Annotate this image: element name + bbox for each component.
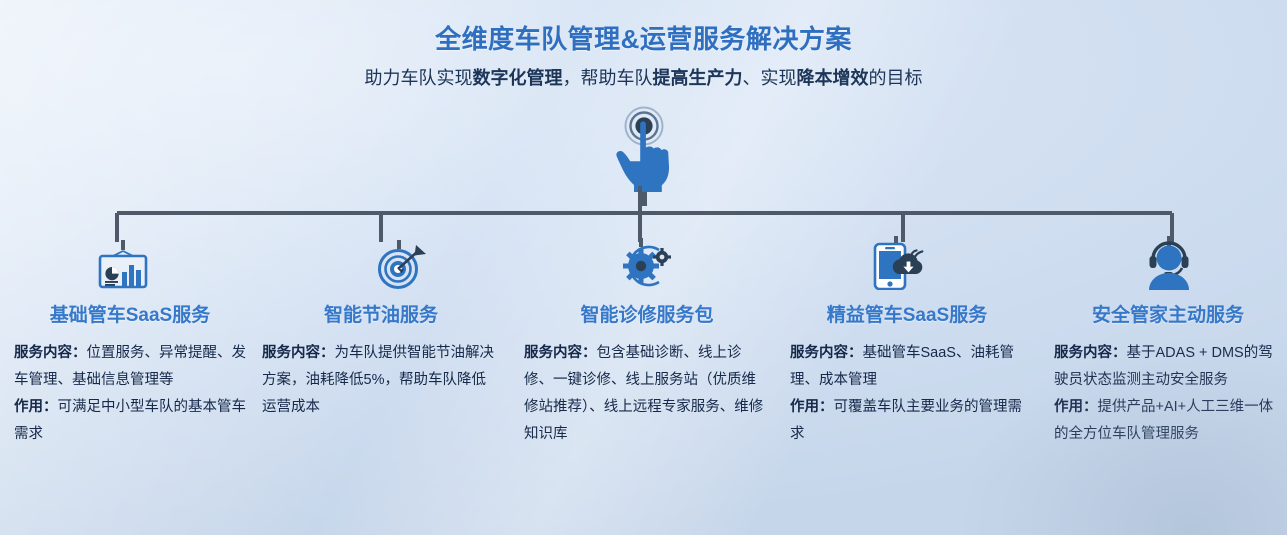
- service-content-block: 服务内容：基于ADAS + DMS的驾驶员状态监测主动安全服务: [1054, 340, 1282, 394]
- subtitle-part-1: 助力车队实现: [365, 68, 473, 88]
- service-content-block: 服务内容：为车队提供智能节油解决方案，油耗降低5%，帮助车队降低运营成本: [262, 340, 500, 421]
- service-column-5: 安全管家主动服务 服务内容：基于ADAS + DMS的驾驶员状态监测主动安全服务…: [1054, 228, 1282, 448]
- column-body: 服务内容：包含基础诊断、线上诊修、一键诊修、线上服务站（优质维修站推荐）、线上远…: [524, 340, 770, 448]
- subtitle-part-2: ，帮助车队: [563, 68, 653, 88]
- column-title: 智能诊修服务包: [524, 304, 770, 328]
- subtitle-part-3: 、实现: [743, 68, 797, 88]
- column-title: 精益管车SaaS服务: [790, 304, 1024, 328]
- service-effect-block: 作用：提供产品+AI+人工三维一体的全方位车队管理服务: [1054, 394, 1282, 448]
- block-label: 服务内容：: [262, 345, 335, 361]
- column-title: 基础管车SaaS服务: [14, 304, 246, 328]
- subtitle-part-4: 的目标: [869, 68, 923, 88]
- column-title: 智能节油服务: [262, 304, 500, 328]
- service-column-1: 基础管车SaaS服务 服务内容：位置服务、异常提醒、发车管理、基础信息管理等 作…: [14, 228, 246, 448]
- gear-settings-icon: [524, 228, 770, 290]
- subtitle-emphasis-3: 降本增效: [797, 68, 869, 88]
- column-body: 服务内容：基础管车SaaS、油耗管理、成本管理 作用：可覆盖车队主要业务的管理需…: [790, 340, 1024, 448]
- mobile-cloud-download-icon: [790, 228, 1024, 290]
- block-label: 服务内容：: [14, 345, 87, 361]
- page-subtitle: 助力车队实现数字化管理，帮助车队提高生产力、实现降本增效的目标: [0, 65, 1287, 91]
- column-body: 服务内容：为车队提供智能节油解决方案，油耗降低5%，帮助车队降低运营成本: [262, 340, 500, 421]
- header: 全维度车队管理&运营服务解决方案 助力车队实现数字化管理，帮助车队提高生产力、实…: [0, 22, 1287, 91]
- column-title: 安全管家主动服务: [1054, 304, 1282, 328]
- subtitle-emphasis-2: 提高生产力: [653, 68, 743, 88]
- service-column-3: 智能诊修服务包 服务内容：包含基础诊断、线上诊修、一键诊修、线上服务站（优质维修…: [524, 228, 770, 448]
- service-column-2: 智能节油服务 服务内容：为车队提供智能节油解决方案，油耗降低5%，帮助车队降低运…: [262, 228, 500, 421]
- block-label: 服务内容：: [790, 345, 863, 361]
- service-content-block: 服务内容：包含基础诊断、线上诊修、一键诊修、线上服务站（优质维修站推荐）、线上远…: [524, 340, 770, 448]
- column-body: 服务内容：位置服务、异常提醒、发车管理、基础信息管理等 作用：可满足中小型车队的…: [14, 340, 246, 448]
- block-label: 作用：: [14, 399, 58, 415]
- headset-agent-icon: [1054, 228, 1282, 290]
- block-label: 服务内容：: [1054, 345, 1127, 361]
- page-title: 全维度车队管理&运营服务解决方案: [0, 22, 1287, 56]
- infographic-canvas: 全维度车队管理&运营服务解决方案 助力车队实现数字化管理，帮助车队提高生产力、实…: [0, 0, 1287, 535]
- block-label: 服务内容：: [524, 345, 597, 361]
- block-label: 作用：: [1054, 399, 1098, 415]
- block-label: 作用：: [790, 399, 834, 415]
- service-content-block: 服务内容：基础管车SaaS、油耗管理、成本管理: [790, 340, 1024, 394]
- subtitle-emphasis-1: 数字化管理: [473, 68, 563, 88]
- service-columns: 基础管车SaaS服务 服务内容：位置服务、异常提醒、发车管理、基础信息管理等 作…: [0, 228, 1287, 535]
- service-column-4: 精益管车SaaS服务 服务内容：基础管车SaaS、油耗管理、成本管理 作用：可覆…: [790, 228, 1024, 448]
- service-effect-block: 作用：可满足中小型车队的基本管车需求: [14, 394, 246, 448]
- service-effect-block: 作用：可覆盖车队主要业务的管理需求: [790, 394, 1024, 448]
- target-arrow-icon: [262, 228, 500, 290]
- column-body: 服务内容：基于ADAS + DMS的驾驶员状态监测主动安全服务 作用：提供产品+…: [1054, 340, 1282, 448]
- service-content-block: 服务内容：位置服务、异常提醒、发车管理、基础信息管理等: [14, 340, 246, 394]
- presentation-chart-icon: [14, 228, 246, 290]
